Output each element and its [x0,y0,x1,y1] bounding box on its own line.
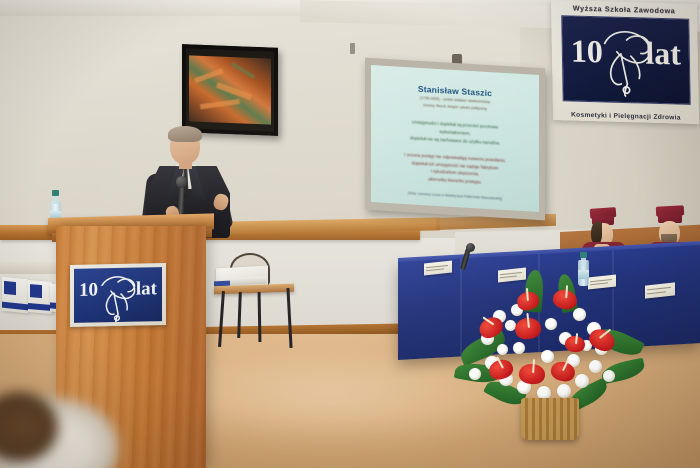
anthurium-spadix [496,356,504,368]
human-figure-logo-icon [596,25,659,99]
slide-source-note: (Rola, Lwowscy Lucas w Wielkiej Auli Pol… [377,190,533,203]
wall-hook [350,43,355,54]
anthurium-spadix [526,313,530,328]
conference-folder [2,277,28,314]
name-card-text-line [647,287,671,291]
projection-screen-frame: Stanisław Staszic (1755-1826) – polski d… [365,58,545,221]
microphone-head [176,176,187,188]
folder-logo-badge [4,281,16,295]
name-card-text-line [647,291,666,294]
projection-screen: Stanisław Staszic (1755-1826) – polski d… [371,65,539,212]
bottle-cap [580,252,586,258]
white-chrysanthemum [469,368,481,380]
anniversary-banner: Wyższa Szkoła Zawodowa 10 lat Kosmetyki … [551,0,699,124]
white-chrysanthemum [513,342,525,354]
lectern-logo-plaque: 10 lat [70,263,166,327]
anthurium-spadix [575,333,578,344]
folder-stripe [2,302,28,311]
banner-school-name: Wyższa Szkoła Zawodowa [551,3,697,16]
conference-photo: Wyższa Szkoła Zawodowa 10 lat Kosmetyki … [0,0,700,468]
folder-stripe [28,303,52,311]
anthurium-spadix [565,285,568,298]
wall-painting [182,44,278,136]
plaque-inner: 10 lat [74,267,162,323]
red-anthurium [518,363,545,385]
white-chrysanthemum [557,384,571,398]
plaque-number: 10 [79,280,98,299]
white-chrysanthemum [573,308,586,321]
anthurium-spadix [562,359,569,372]
name-card-text-line [426,268,444,271]
anthurium-spadix [599,329,611,339]
name-card-text-line [426,265,448,268]
hair [168,126,202,142]
white-chrysanthemum [545,318,557,330]
anthurium-spadix [532,359,535,373]
white-chrysanthemum [575,374,589,388]
bottle-cap [52,190,58,196]
wicker-basket [521,398,579,440]
white-chrysanthemum [589,360,602,373]
human-figure-logo-icon [97,273,141,323]
folder-logo-badge [30,284,42,298]
bottle-neck [581,257,586,266]
conference-folder [28,280,52,314]
flower-arrangement [455,276,645,468]
bottle-neck [53,195,58,204]
anthurium-spadix [482,316,494,325]
red-anthurium [514,317,542,341]
red-anthurium [564,335,586,353]
banner-department: Kosmetyki i Pielęgnacji Zdrowia [553,111,699,122]
name-card-text-line [500,272,522,275]
white-chrysanthemum [497,344,508,355]
white-chrysanthemum [541,350,554,363]
hair [591,222,602,244]
banner-logo-plate: 10 lat [561,15,690,105]
white-chrysanthemum [603,370,615,382]
table-microphone-head [466,243,475,252]
